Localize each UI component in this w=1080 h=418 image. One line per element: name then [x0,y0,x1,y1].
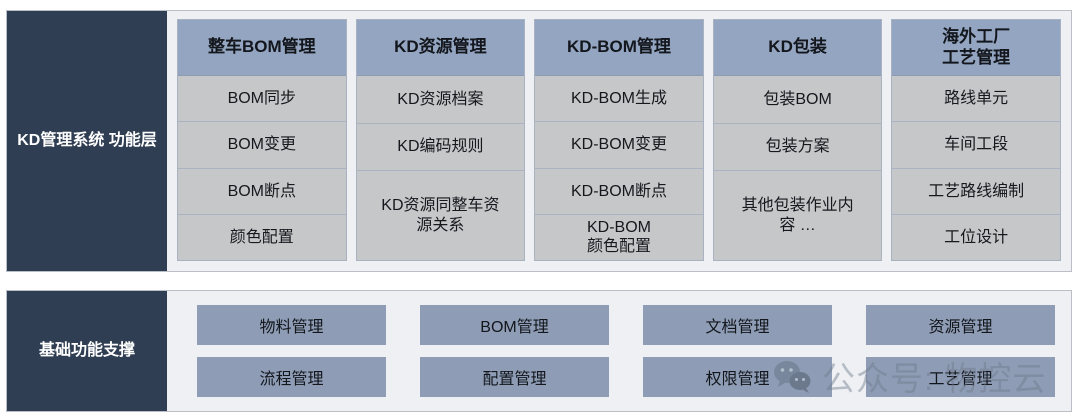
cell-item[interactable]: 包装方案 [714,124,882,172]
column-vehicle-bom-management: 整车BOM管理 BOM同步 BOM变更 BOM断点 颜色配置 [177,19,347,261]
cell-item[interactable]: 包装BOM [714,76,882,124]
chip-document-management[interactable]: 文档管理 [643,305,832,345]
cell-item[interactable]: 工位设计 [892,215,1060,260]
column-header: KD-BOM管理 [535,20,703,76]
cell-item[interactable]: KD-BOM断点 [535,169,703,215]
column-items: 路线单元 车间工段 工艺路线编制 工位设计 [892,76,1060,260]
column-header: KD资源管理 [357,20,525,76]
column-items: 包装BOM 包装方案 其他包装作业内 容 … [714,76,882,260]
cell-item[interactable]: KD-BOM变更 [535,122,703,168]
kd-function-layer-band: KD管理系统 功能层 整车BOM管理 BOM同步 BOM变更 BOM断点 颜色配… [6,10,1072,272]
cell-item[interactable]: 颜色配置 [178,215,346,260]
chip-configuration-management[interactable]: 配置管理 [420,357,609,397]
column-items: BOM同步 BOM变更 BOM断点 颜色配置 [178,76,346,260]
cell-item[interactable]: BOM变更 [178,122,346,168]
cell-item[interactable]: 工艺路线编制 [892,169,1060,215]
cell-item[interactable]: KD资源同整车资 源关系 [357,171,525,260]
cell-item[interactable]: KD资源档案 [357,76,525,124]
cell-item[interactable]: 车间工段 [892,122,1060,168]
chip-resource-management[interactable]: 资源管理 [866,305,1055,345]
chip-permission-management[interactable]: 权限管理 [643,357,832,397]
column-header: KD包装 [714,20,882,76]
column-items: KD资源档案 KD编码规则 KD资源同整车资 源关系 [357,76,525,260]
function-columns: 整车BOM管理 BOM同步 BOM变更 BOM断点 颜色配置 KD资源管理 KD… [167,11,1071,271]
cell-item[interactable]: KD编码规则 [357,124,525,172]
column-items: KD-BOM生成 KD-BOM变更 KD-BOM断点 KD-BOM 颜色配置 [535,76,703,260]
chip-craft-management[interactable]: 工艺管理 [866,357,1055,397]
column-header: 海外工厂 工艺管理 [892,20,1060,76]
band-label-kd-function-layer: KD管理系统 功能层 [7,11,167,271]
chip-material-management[interactable]: 物料管理 [197,305,386,345]
architecture-diagram: KD管理系统 功能层 整车BOM管理 BOM同步 BOM变更 BOM断点 颜色配… [0,0,1080,418]
chip-process-flow-management[interactable]: 流程管理 [197,357,386,397]
cell-item[interactable]: KD-BOM生成 [535,76,703,122]
column-kd-resource-management: KD资源管理 KD资源档案 KD编码规则 KD资源同整车资 源关系 [356,19,526,261]
cell-item[interactable]: BOM断点 [178,169,346,215]
cell-item[interactable]: 路线单元 [892,76,1060,122]
basic-function-support-band: 基础功能支撑 物料管理 BOM管理 文档管理 资源管理 流程管理 配置管理 权限… [6,290,1072,412]
cell-item[interactable]: BOM同步 [178,76,346,122]
column-kd-bom-management: KD-BOM管理 KD-BOM生成 KD-BOM变更 KD-BOM断点 KD-B… [534,19,704,261]
basic-function-chips: 物料管理 BOM管理 文档管理 资源管理 流程管理 配置管理 权限管理 工艺管理 [167,291,1071,411]
column-header: 整车BOM管理 [178,20,346,76]
column-overseas-factory-process-management: 海外工厂 工艺管理 路线单元 车间工段 工艺路线编制 工位设计 [891,19,1061,261]
column-kd-packaging: KD包装 包装BOM 包装方案 其他包装作业内 容 … [713,19,883,261]
cell-item[interactable]: 其他包装作业内 容 … [714,171,882,260]
band-label-basic-function-support: 基础功能支撑 [7,291,167,411]
chip-bom-management[interactable]: BOM管理 [420,305,609,345]
cell-item[interactable]: KD-BOM 颜色配置 [535,215,703,260]
